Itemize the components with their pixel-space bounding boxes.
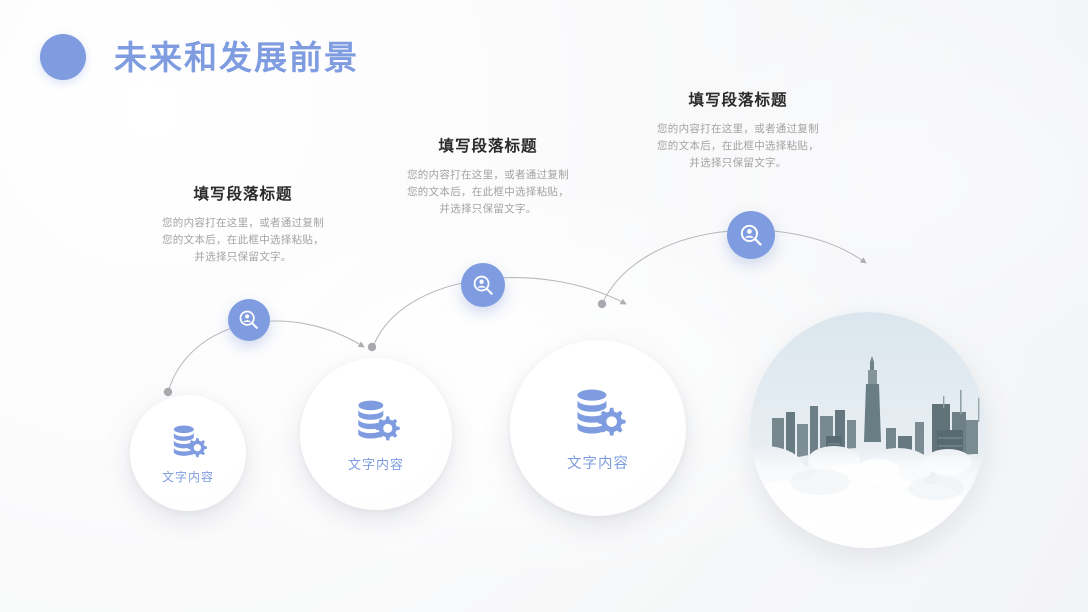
magnifier-person-icon [739,223,764,248]
marker-2[interactable] [461,263,505,307]
textblock-2: 填写段落标题 您的内容打在这里，或者通过复制 您的文本后，在此框中选择粘贴， 并… [390,138,586,219]
textblock-3-title: 填写段落标题 [638,92,838,111]
textblock-3: 填写段落标题 您的内容打在这里，或者通过复制 您的文本后，在此框中选择粘贴， 并… [638,92,838,173]
node-2-label: 文字内容 [348,454,404,473]
connector-start-dot-1 [164,388,172,396]
slide-canvas: 未来和发展前景 填写段落标题 您的内容打在这里，或者通过复制 您的文本后，在此框… [0,0,1088,612]
textblock-1-line-1: 您的内容打在这里，或者通过复制 [145,215,341,232]
connector-start-dot-3 [598,300,606,308]
magnifier-person-icon [238,309,260,331]
bullet-dot-icon [40,34,86,80]
textblock-2-line-2: 您的文本后，在此框中选择粘贴， [390,184,586,201]
database-gear-icon [168,421,208,461]
node-3-label: 文字内容 [567,452,629,473]
node-2[interactable]: 文字内容 [300,358,452,510]
textblock-3-line-2: 您的文本后，在此框中选择粘贴， [638,138,838,155]
textblock-3-line-3: 并选择只保留文字。 [638,155,838,172]
marker-3[interactable] [727,211,775,259]
magnifier-person-icon [472,274,495,297]
textblock-1-line-2: 您的文本后，在此框中选择粘贴， [145,232,341,249]
node-1[interactable]: 文字内容 [130,395,246,511]
database-gear-icon [351,395,401,445]
textblock-2-title: 填写段落标题 [390,138,586,157]
textblock-1-title: 填写段落标题 [145,186,341,205]
textblock-2-line-1: 您的内容打在这里，或者通过复制 [390,167,586,184]
node-1-label: 文字内容 [162,468,214,485]
textblock-2-line-3: 并选择只保留文字。 [390,201,586,218]
node-3[interactable]: 文字内容 [510,340,686,516]
textblock-1-line-3: 并选择只保留文字。 [145,249,341,266]
slide-header: 未来和发展前景 [40,34,359,80]
textblock-1: 填写段落标题 您的内容打在这里，或者通过复制 您的文本后，在此框中选择粘贴， 并… [145,186,341,267]
marker-1[interactable] [228,299,270,341]
page-title: 未来和发展前景 [114,41,359,74]
city-skyline-above-clouds-photo [750,312,986,548]
connector-start-dot-2 [368,343,376,351]
textblock-3-line-1: 您的内容打在这里，或者通过复制 [638,121,838,138]
database-gear-icon [569,383,627,441]
